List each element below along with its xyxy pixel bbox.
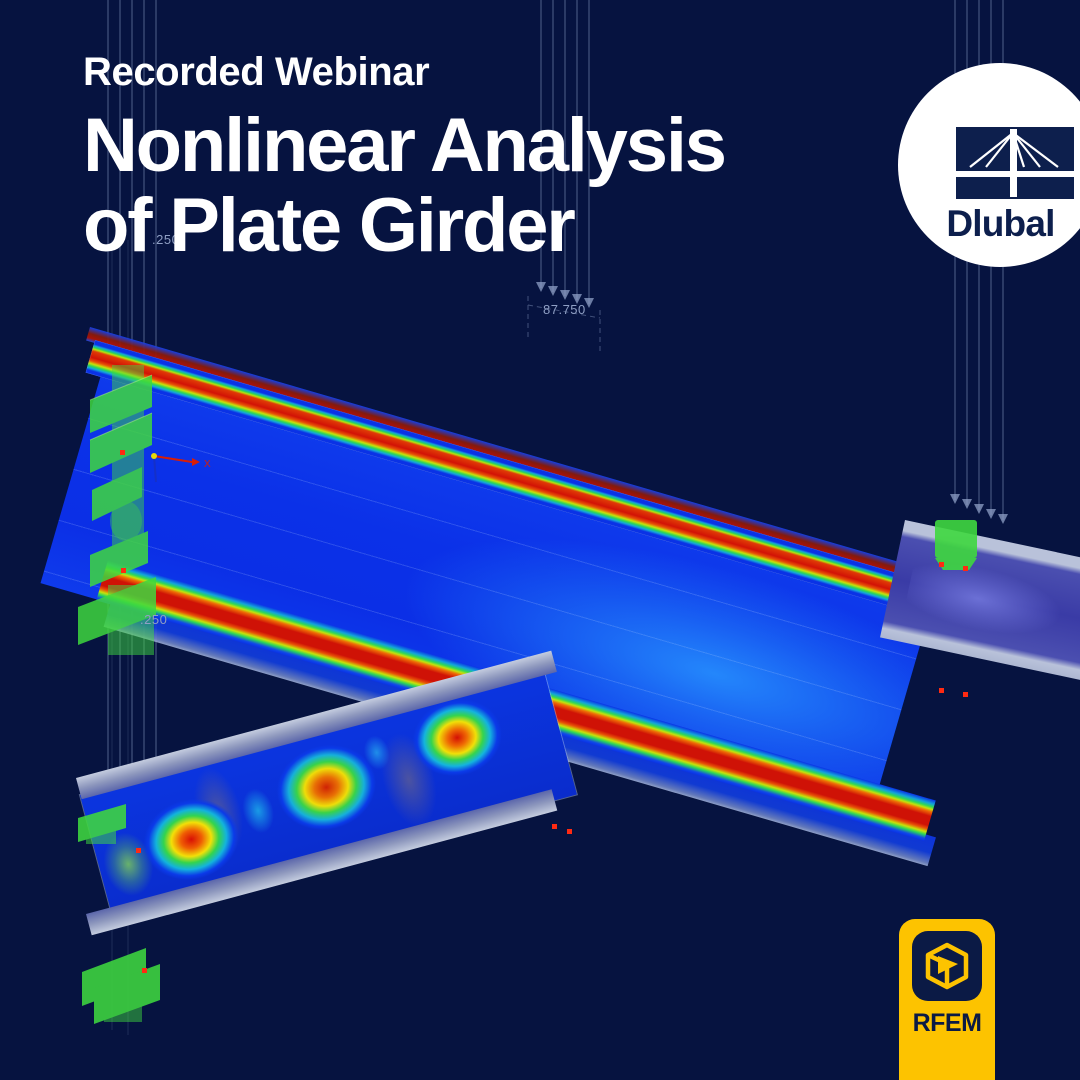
dlubal-wordmark: Dlubal — [918, 203, 1080, 245]
rfem-badge[interactable]: RFEM — [899, 919, 995, 1080]
rfem-icon-container — [912, 931, 982, 1001]
node-marker — [121, 568, 126, 573]
dimension-label: .250 — [140, 612, 167, 627]
headline-line-1: Nonlinear Analysis — [83, 106, 725, 186]
node-marker — [142, 968, 147, 973]
node-marker — [939, 562, 944, 567]
node-marker — [552, 824, 557, 829]
rfem-cube-icon — [924, 942, 970, 990]
svg-text:X: X — [204, 459, 211, 470]
webinar-poster: X 87.750 .250 .250 Recorded Webinar Nonl… — [0, 0, 1080, 1080]
rfem-label: RFEM — [899, 1009, 995, 1038]
node-marker — [963, 566, 968, 571]
node-marker — [136, 848, 141, 853]
node-marker — [939, 688, 944, 693]
support-symbols-lower-left — [68, 800, 188, 1030]
dimension-label: 87.750 — [543, 302, 586, 317]
node-marker — [963, 692, 968, 697]
local-axis-indicator: X — [148, 448, 218, 488]
dlubal-logo[interactable]: Dlubal — [898, 63, 1080, 267]
dlubal-bridge-icon — [956, 127, 1074, 199]
node-marker — [567, 829, 572, 834]
kicker-label: Recorded Webinar — [83, 52, 725, 92]
title-block: Recorded Webinar Nonlinear Analysis of P… — [83, 52, 725, 266]
headline-line-2: of Plate Girder — [83, 186, 725, 266]
node-marker — [120, 450, 125, 455]
page-title: Nonlinear Analysis of Plate Girder — [83, 106, 725, 266]
